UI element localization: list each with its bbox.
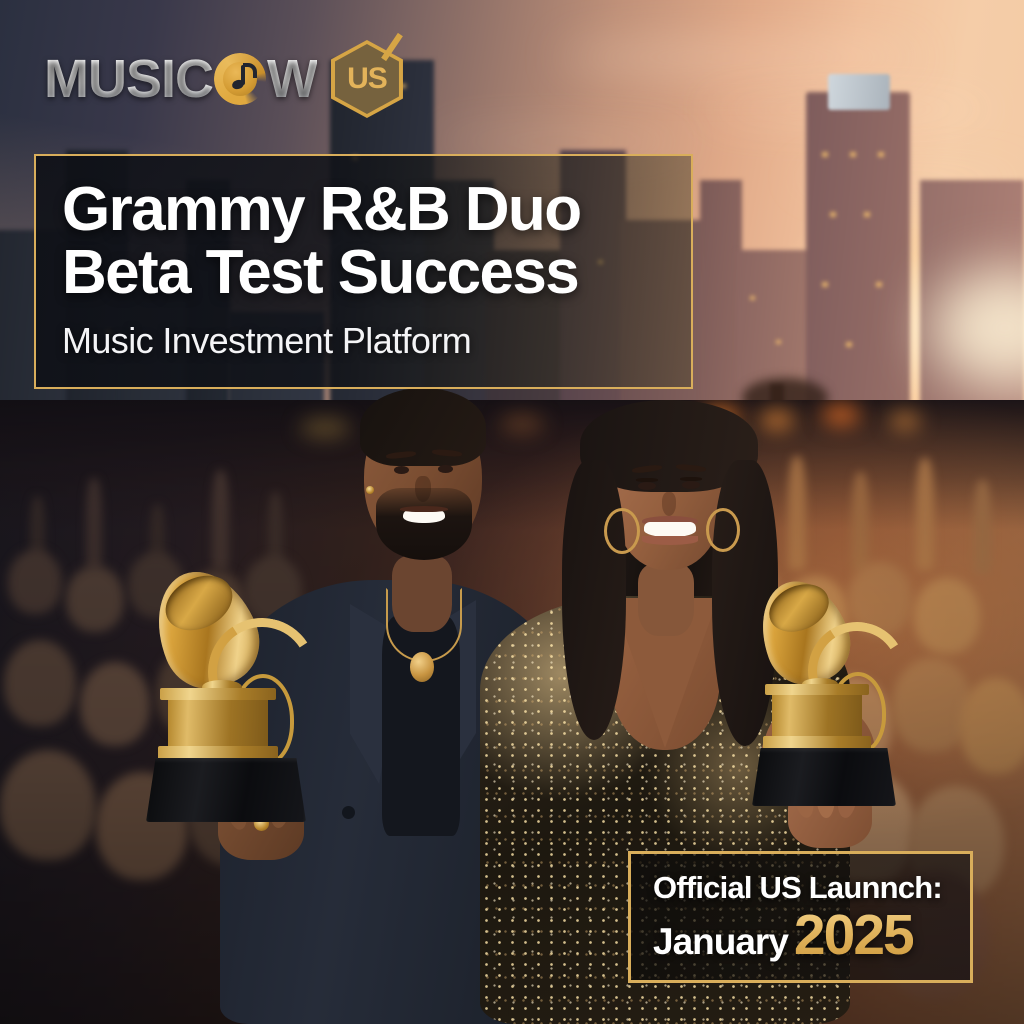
neck — [638, 564, 694, 636]
eye — [394, 466, 409, 474]
musicow-us-logo[interactable]: MUSIC W US — [44, 48, 403, 110]
hair-strand-left — [562, 460, 626, 740]
earring-stud — [366, 486, 374, 494]
beard — [376, 488, 472, 560]
headline-line-2: Beta Test Success — [62, 241, 665, 304]
hexagon-badge-icon: US — [331, 40, 403, 118]
upper-lip — [400, 506, 448, 512]
grammy-trophy-left — [152, 562, 342, 852]
trophy-body-box — [168, 694, 268, 752]
hair — [360, 388, 486, 466]
logo-text-before-icon: MUSIC — [44, 52, 213, 106]
smile-teeth — [644, 522, 696, 537]
music-note-disc-icon — [214, 53, 266, 105]
logo-text-after-icon: W — [267, 52, 317, 106]
trophy-foot — [158, 746, 278, 760]
launch-date-panel: Official US Launnch: January 2025 — [628, 851, 973, 983]
gold-chain — [386, 588, 462, 662]
trophy-body-box — [772, 690, 862, 742]
trophy-base — [146, 758, 306, 822]
tower-crown — [828, 74, 890, 110]
note-flag — [243, 63, 257, 78]
logo-wordmark: MUSIC W — [44, 52, 317, 106]
jacket-button — [342, 806, 355, 819]
eye — [682, 481, 700, 489]
trophy-foot — [763, 736, 871, 749]
nose — [662, 492, 676, 516]
hoop-earring — [604, 508, 640, 554]
launch-label: Official US Launnch: — [653, 870, 970, 906]
trophy-lid — [160, 688, 276, 700]
launch-date-row: January 2025 — [653, 910, 970, 963]
eye — [638, 482, 656, 490]
eye — [438, 465, 453, 473]
grammy-trophy-right — [760, 572, 936, 832]
promotional-poster: MUSIC W US Grammy R&B Duo Beta Test Succ… — [0, 0, 1024, 1024]
launch-month: January — [653, 921, 788, 963]
chain-pendant — [410, 652, 434, 682]
eyelash — [636, 478, 658, 482]
headline-panel: Grammy R&B Duo Beta Test Success Music I… — [34, 154, 693, 389]
hoop-earring — [706, 508, 740, 552]
launch-year: 2025 — [794, 910, 913, 961]
eyelash — [680, 477, 702, 481]
trophy-lid — [765, 684, 869, 695]
trophy-base — [752, 748, 896, 806]
headline-line-1: Grammy R&B Duo — [62, 178, 665, 241]
lower-lip — [642, 536, 698, 545]
headline-subtitle: Music Investment Platform — [62, 320, 665, 362]
badge-label: US — [331, 40, 403, 118]
